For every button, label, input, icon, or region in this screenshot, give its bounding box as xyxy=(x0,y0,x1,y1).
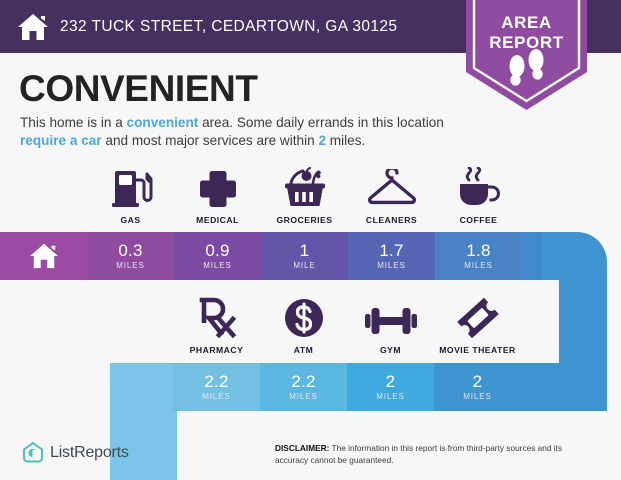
dumbbell-icon xyxy=(365,295,417,339)
icon-cell-groceries: GROCERIES xyxy=(261,165,348,225)
badge-text: AREA REPORT xyxy=(466,13,587,53)
badge-line-1: AREA xyxy=(466,13,587,33)
dollar-coin-icon xyxy=(283,295,325,339)
bar-segment-tail xyxy=(522,232,542,280)
icon-label-medical: MEDICAL xyxy=(196,215,239,225)
icon-label-coffee: COFFEE xyxy=(460,215,498,225)
distance-unit-pharmacy: MILES xyxy=(202,392,231,401)
listreports-logo[interactable]: ListReports xyxy=(22,441,129,465)
bar-segment-gym: 2 MILES xyxy=(347,363,434,411)
bar-segment-home xyxy=(0,232,87,280)
icon-row-secondary: PHARMACY ATM G xyxy=(173,295,607,355)
icon-row-primary: GAS MEDICAL xyxy=(0,165,607,225)
distance-unit-atm: MILES xyxy=(289,392,318,401)
distance-bar-primary: 0.3 MILES 0.9 MILES 1 MILE 1.7 MILES 1.8… xyxy=(0,232,607,280)
badge-line-2: REPORT xyxy=(466,33,587,53)
icon-label-gas: GAS xyxy=(120,215,140,225)
bar-segment-medical: 0.9 MILES xyxy=(174,232,261,280)
bar-segment-gas: 0.3 MILES xyxy=(87,232,174,280)
distance-unit-groceries: MILE xyxy=(293,261,315,270)
bar-segment-lead xyxy=(110,363,173,411)
distance-unit-gym: MILES xyxy=(376,392,405,401)
bar-segment-cleaners: 1.7 MILES xyxy=(348,232,435,280)
coffee-cup-icon xyxy=(455,165,503,209)
home-icon xyxy=(17,12,49,42)
grocery-basket-icon xyxy=(282,165,328,209)
distance-bar-secondary: 2.2 MILES 2.2 MILES 2 MILES 2 MILES xyxy=(110,363,607,411)
listreports-pin-icon xyxy=(22,441,44,465)
icon-cell-movie-theater: MOVIE THEATER xyxy=(434,295,521,355)
prescription-rx-icon xyxy=(197,295,237,339)
icon-label-groceries: GROCERIES xyxy=(276,215,332,225)
disclaimer: DISCLAIMER: The information in this repo… xyxy=(275,443,595,466)
distance-unit-cleaners: MILES xyxy=(377,261,406,270)
summary-highlight-miles: 2 xyxy=(318,133,326,148)
distance-value-coffee: 1.8 xyxy=(466,242,490,260)
icon-cell-coffee: COFFEE xyxy=(435,165,522,225)
icon-cell-atm: ATM xyxy=(260,295,347,355)
listreports-logo-text: ListReports xyxy=(50,444,129,462)
icon-label-atm: ATM xyxy=(294,345,313,355)
bar-segment-coffee: 1.8 MILES xyxy=(435,232,522,280)
icon-label-cleaners: CLEANERS xyxy=(366,215,417,225)
bar-segment-movie-theater: 2 MILES xyxy=(434,363,521,411)
distance-unit-medical: MILES xyxy=(203,261,232,270)
distance-unit-gas: MILES xyxy=(116,261,145,270)
bar-segment-atm: 2.2 MILES xyxy=(260,363,347,411)
summary-highlight-convenient: convenient xyxy=(127,115,199,130)
clothes-hanger-icon xyxy=(366,165,418,209)
icon-cell-medical: MEDICAL xyxy=(174,165,261,225)
distance-value-gas: 0.3 xyxy=(118,242,142,260)
distance-unit-coffee: MILES xyxy=(464,261,493,270)
area-report-badge: AREA REPORT xyxy=(466,0,587,110)
medical-cross-icon xyxy=(198,165,238,209)
distance-unit-movie-theater: MILES xyxy=(463,392,492,401)
bar-segment-groceries: 1 MILE xyxy=(261,232,348,280)
icon-label-gym: GYM xyxy=(380,345,401,355)
distance-value-cleaners: 1.7 xyxy=(379,242,403,260)
page-title: CONVENIENT xyxy=(19,68,258,110)
movie-ticket-icon xyxy=(456,295,500,339)
icon-cell-gas: GAS xyxy=(87,165,174,225)
summary-part-2: area. Some daily errands in this locatio… xyxy=(198,115,444,130)
distance-value-movie-theater: 2 xyxy=(473,373,483,391)
summary-text: This home is in a convenient area. Some … xyxy=(20,114,450,150)
infographic-page: 232 TUCK STREET, CEDARTOWN, GA 30125 ARE… xyxy=(0,0,621,480)
icon-cell-gym: GYM xyxy=(347,295,434,355)
icon-label-pharmacy: PHARMACY xyxy=(190,345,244,355)
bar-segment-pharmacy: 2.2 MILES xyxy=(173,363,260,411)
distance-value-pharmacy: 2.2 xyxy=(204,373,228,391)
distance-value-medical: 0.9 xyxy=(205,242,229,260)
distance-value-atm: 2.2 xyxy=(291,373,315,391)
icon-label-movie-theater: MOVIE THEATER xyxy=(439,345,516,355)
summary-part-4: miles. xyxy=(326,133,365,148)
distance-value-gym: 2 xyxy=(386,373,396,391)
icon-cell-pharmacy: PHARMACY xyxy=(173,295,260,355)
property-address: 232 TUCK STREET, CEDARTOWN, GA 30125 xyxy=(60,18,397,36)
distance-value-groceries: 1 xyxy=(300,242,310,260)
disclaimer-label: DISCLAIMER: xyxy=(275,443,329,453)
summary-part-1: This home is in a xyxy=(20,115,127,130)
icon-cell-cleaners: CLEANERS xyxy=(348,165,435,225)
bar-segment-tail-2 xyxy=(521,363,607,411)
gas-pump-icon xyxy=(109,165,153,209)
icon-cell-spacer xyxy=(0,165,87,225)
summary-part-3: and most major services are within xyxy=(102,133,319,148)
summary-highlight-require-a-car: require a car xyxy=(20,133,102,148)
